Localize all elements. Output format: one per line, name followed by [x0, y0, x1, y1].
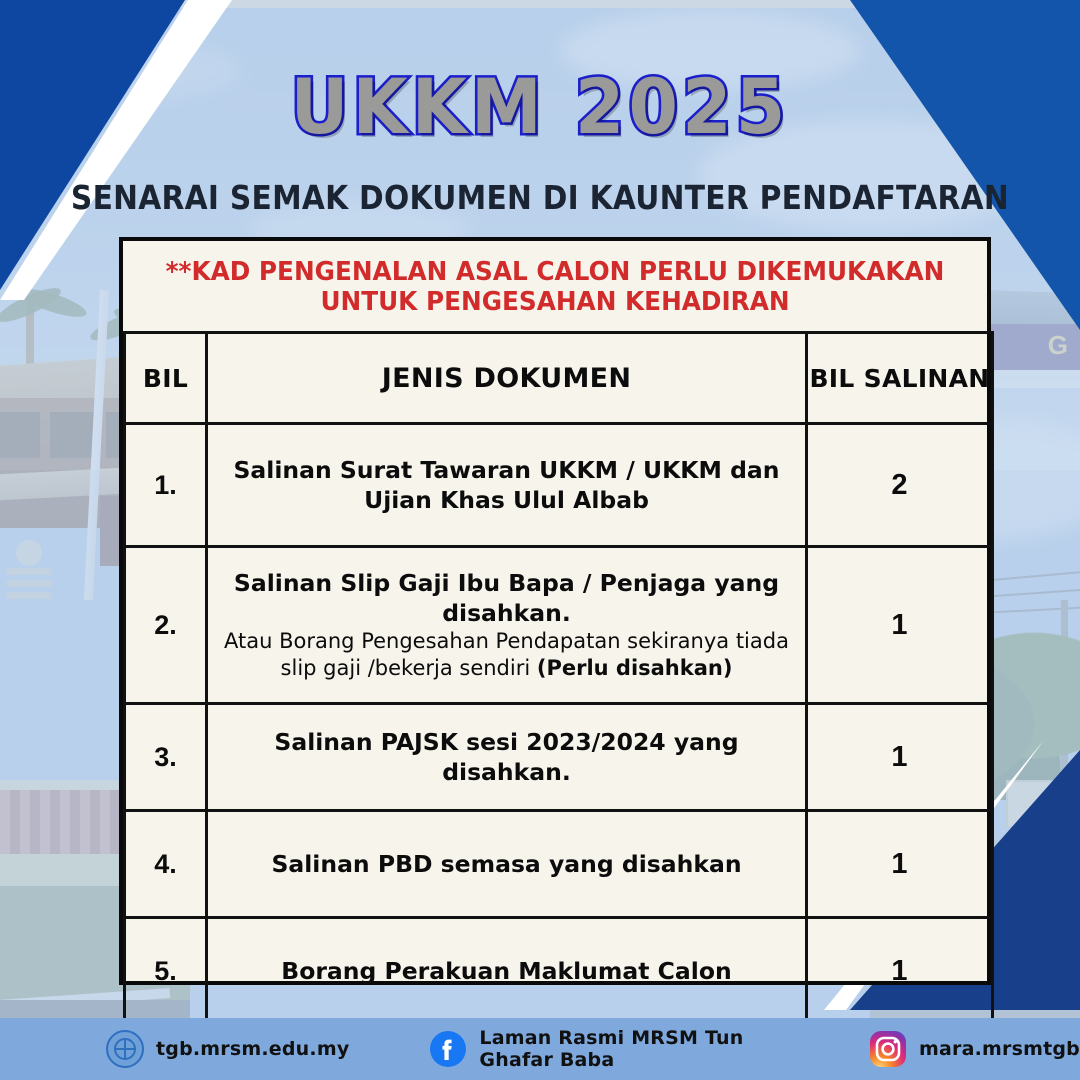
row-document: Salinan Surat Tawaran UKKM / UKKM dan Uj…: [207, 424, 807, 547]
poster-subtitle: SENARAI SEMAK DOKUMEN DI KAUNTER PENDAFT…: [54, 178, 1026, 217]
footer-label-facebook: Laman Rasmi MRSM Tun Ghafar Baba: [479, 1027, 795, 1071]
table-row: 3. Salinan PAJSK sesi 2023/2024 yang dis…: [125, 704, 993, 811]
row-document: Salinan PBD semasa yang disahkan: [207, 811, 807, 918]
row-document: Salinan PAJSK sesi 2023/2024 yang disahk…: [207, 704, 807, 811]
poster-canvas: NG G UKKM 2025 SENARAI SEMAK DOKUMEN DI …: [0, 0, 1080, 1080]
table-header-row: BIL JENIS DOKUMEN BIL SALINAN: [125, 333, 993, 424]
row-number: 4.: [125, 811, 207, 918]
instagram-icon: [869, 1030, 907, 1068]
row-document-main: Salinan Slip Gaji Ibu Bapa / Penjaga yan…: [234, 569, 779, 627]
column-header-bil: BIL: [125, 333, 207, 424]
table-row: 4. Salinan PBD semasa yang disahkan 1: [125, 811, 993, 918]
notice-text: **KAD PENGENALAN ASAL CALON PERLU DIKEMU…: [136, 241, 974, 331]
row-document-note-bold: (Perlu disahkan): [537, 656, 733, 680]
footer-bar: tgb.mrsm.edu.my Laman Rasmi MRSM Tun Gha…: [0, 1018, 1080, 1080]
footer-item-instagram[interactable]: mara.mrsmtgb: [869, 1030, 1080, 1068]
row-document-main: Salinan PAJSK sesi 2023/2024 yang disahk…: [274, 728, 738, 786]
document-checklist-table: BIL JENIS DOKUMEN BIL SALINAN 1. Salinan…: [123, 331, 994, 1080]
row-document-main: Salinan Surat Tawaran UKKM / UKKM dan Uj…: [233, 456, 779, 514]
footer-item-facebook[interactable]: Laman Rasmi MRSM Tun Ghafar Baba: [429, 1027, 795, 1071]
row-number: 3.: [125, 704, 207, 811]
poster-title: UKKM 2025: [0, 62, 1080, 151]
column-header-copies: BIL SALINAN: [807, 333, 993, 424]
column-header-document: JENIS DOKUMEN: [207, 333, 807, 424]
row-copies: 2: [807, 424, 993, 547]
footer-label-website: tgb.mrsm.edu.my: [156, 1038, 349, 1060]
row-document-main: Salinan PBD semasa yang disahkan: [271, 850, 741, 878]
checklist-card: **KAD PENGENALAN ASAL CALON PERLU DIKEMU…: [119, 237, 991, 985]
row-copies: 1: [807, 547, 993, 704]
row-document: Salinan Slip Gaji Ibu Bapa / Penjaga yan…: [207, 547, 807, 704]
table-row: 2. Salinan Slip Gaji Ibu Bapa / Penjaga …: [125, 547, 993, 704]
row-copies: 1: [807, 704, 993, 811]
table-row: 1. Salinan Surat Tawaran UKKM / UKKM dan…: [125, 424, 993, 547]
footer-item-website[interactable]: tgb.mrsm.edu.my: [106, 1030, 349, 1068]
row-number: 2.: [125, 547, 207, 704]
row-document-main: Borang Perakuan Maklumat Calon: [281, 957, 731, 985]
row-document-note: Atau Borang Pengesahan Pendapatan sekira…: [224, 628, 789, 683]
row-document: Borang Perakuan Maklumat Calon: [207, 918, 807, 1025]
facebook-icon: [429, 1030, 467, 1068]
row-copies: 1: [807, 918, 993, 1025]
globe-icon: [106, 1030, 144, 1068]
row-number: 1.: [125, 424, 207, 547]
table-row: 5. Borang Perakuan Maklumat Calon 1: [125, 918, 993, 1025]
row-copies: 1: [807, 811, 993, 918]
row-number: 5.: [125, 918, 207, 1025]
footer-label-instagram: mara.mrsmtgb: [919, 1038, 1080, 1060]
